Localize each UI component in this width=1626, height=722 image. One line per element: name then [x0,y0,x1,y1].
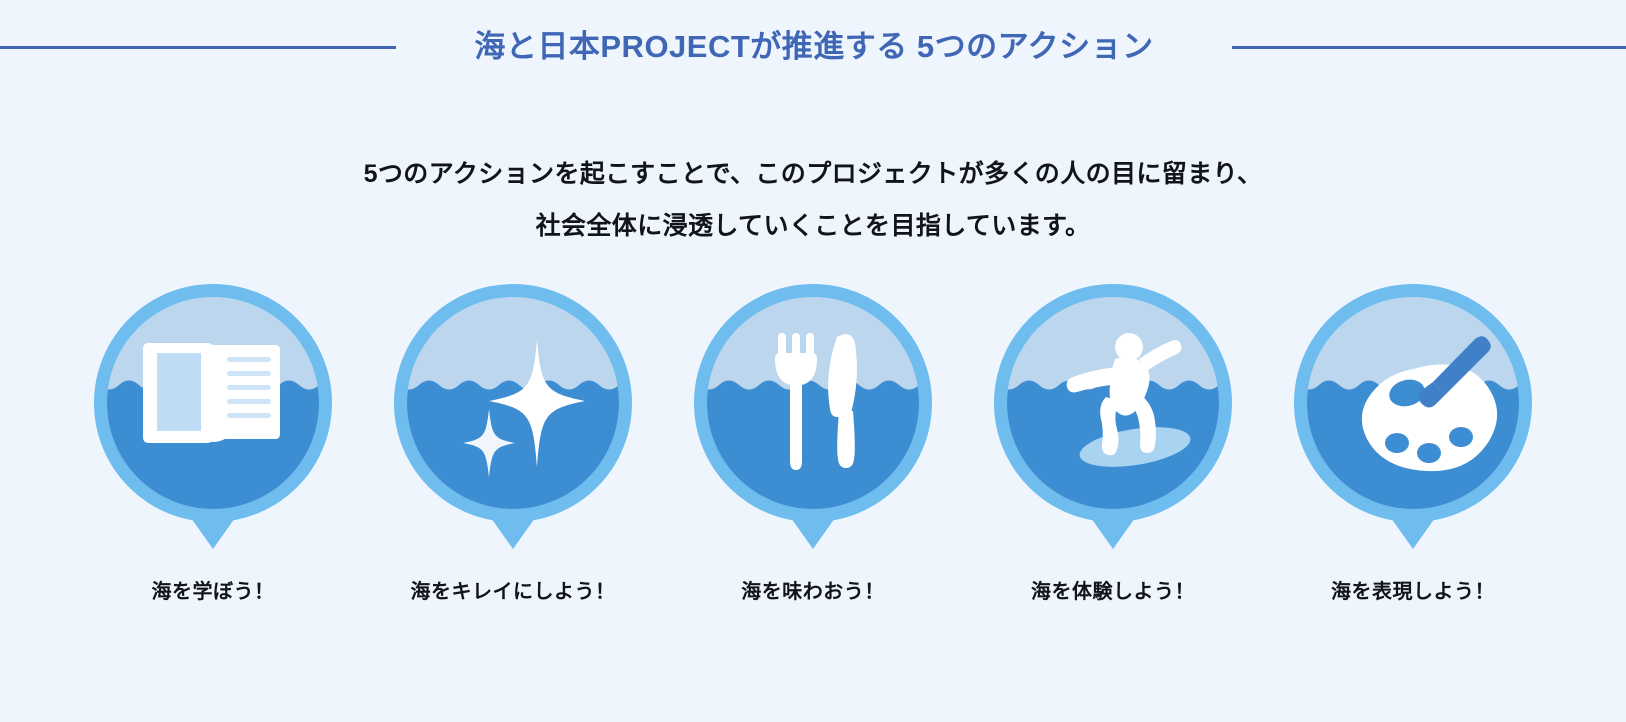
action-item-express[interactable]: 海を表現しよう！ [1289,281,1537,604]
action-item-experience[interactable]: 海を体験しよう！ [989,281,1237,604]
action-label-learn: 海を学ぼう！ [152,575,275,604]
section-heading: 海と日本PROJECTが推進する 5つのアクション [0,26,1626,68]
action-label-experience: 海を体験しよう！ [1031,575,1195,604]
heading-rule-right [1232,46,1626,49]
action-pin-list: 海を学ぼう！ 海をキレイにしよう！ [0,281,1626,604]
action-item-taste[interactable]: 海を味わおう！ [689,281,937,604]
action-item-clean[interactable]: 海をキレイにしよう！ [389,281,637,604]
lead-paragraph: 5つのアクションを起こすことで、このプロジェクトが多くの人の目に留まり、 社会全… [0,148,1626,252]
surfer-icon [989,281,1237,553]
fork-and-knife-icon [689,281,937,553]
paint-palette-icon [1289,281,1537,553]
heading-rule-left [0,46,396,49]
lead-line-2: 社会全体に浸透していくことを目指しています。 [0,200,1626,252]
action-label-taste: 海を味わおう！ [741,575,885,604]
action-label-clean: 海をキレイにしよう！ [411,575,616,604]
lead-line-1: 5つのアクションを起こすことで、このプロジェクトが多くの人の目に留まり、 [0,148,1626,200]
action-item-learn[interactable]: 海を学ぼう！ [89,281,337,604]
action-label-express: 海を表現しよう！ [1331,575,1495,604]
page-title: 海と日本PROJECTが推進する 5つのアクション [396,26,1232,68]
sparkle-icon [389,281,637,553]
open-book-icon [89,281,337,553]
